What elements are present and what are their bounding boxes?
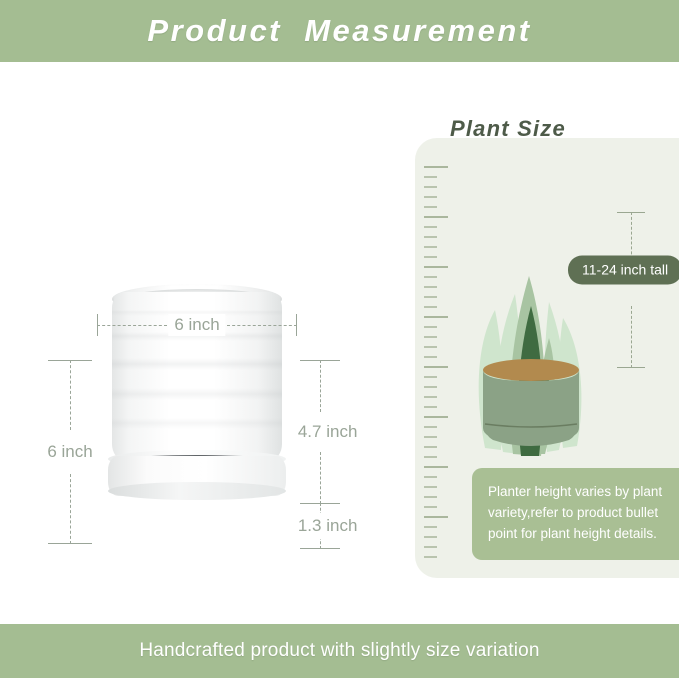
ruler-tick <box>424 506 437 508</box>
ruler-tick <box>424 476 437 478</box>
ruler-tick <box>424 276 437 278</box>
ruler-tick <box>424 526 437 528</box>
dimension-pot-height-label: 4.7 inch <box>296 419 360 445</box>
page-title: Product Measurement <box>147 13 531 49</box>
plant-height-badge: 11-24 inch tall <box>568 256 679 285</box>
footer-banner: Handcrafted product with slightly size v… <box>0 624 679 678</box>
ruler-tick <box>424 376 437 378</box>
ruler-tick <box>424 206 437 208</box>
ruler-tick <box>424 496 437 498</box>
ruler-tick <box>424 406 437 408</box>
ruler-tick <box>424 536 437 538</box>
dimension-dash-top <box>70 360 71 430</box>
ruler-tick <box>424 486 437 488</box>
ruler-tick <box>424 216 448 218</box>
dimension-width-label: 6 inch <box>168 314 225 336</box>
product-measurement-section: 6 inch 6 inch 4.7 inch 1.3 inch <box>0 62 400 624</box>
ruler-tick <box>424 166 448 168</box>
dimension-dash-top <box>320 360 321 412</box>
ruler-tick <box>424 306 437 308</box>
ruler-tick <box>424 456 437 458</box>
dimension-plant-height <box>611 212 651 368</box>
ruler-tick <box>424 516 448 518</box>
ruler-tick <box>424 546 437 548</box>
dimension-dash-left <box>97 325 167 326</box>
planter-saucer-bottom <box>108 482 286 500</box>
ruler-tick <box>424 356 437 358</box>
ruler-tick <box>424 416 448 418</box>
dimension-total-height: 6 inch <box>48 360 92 544</box>
ruler-tick <box>424 366 448 368</box>
plant-size-panel: Planter height varies by plant variety,r… <box>415 138 679 578</box>
plant-size-title: Plant Size <box>450 116 566 142</box>
ruler-tick <box>424 176 437 178</box>
dimension-total-height-label: 6 inch <box>45 439 94 465</box>
dimension-saucer-height: 1.3 inch <box>300 503 344 549</box>
ruler-tick <box>424 346 437 348</box>
footer-note: Handcrafted product with slightly size v… <box>139 640 539 662</box>
ruler-tick <box>424 436 437 438</box>
ruler-icon <box>424 166 454 566</box>
dimension-pot-height: 4.7 inch <box>300 360 344 504</box>
ruler-tick <box>424 266 448 268</box>
ruler-tick <box>424 396 437 398</box>
header-banner: Product Measurement <box>0 0 679 62</box>
ruler-tick <box>424 466 448 468</box>
dimension-dash-bottom <box>631 306 632 368</box>
ruler-tick <box>424 316 448 318</box>
ruler-tick <box>424 186 437 188</box>
ruler-tick <box>424 386 437 388</box>
ruler-tick <box>424 226 437 228</box>
dimension-dash-right <box>227 325 297 326</box>
ruler-tick <box>424 256 437 258</box>
ruler-tick <box>424 446 437 448</box>
ruler-tick <box>424 196 437 198</box>
ruler-tick <box>424 426 437 428</box>
ruler-tick <box>424 556 437 558</box>
ruler-tick <box>424 236 437 238</box>
dimension-saucer-height-label: 1.3 inch <box>296 513 360 539</box>
dimension-dash-bottom <box>320 452 321 504</box>
plant-height-note: Planter height varies by plant variety,r… <box>472 468 679 560</box>
dimension-dash-bottom <box>70 474 71 544</box>
ruler-tick <box>424 246 437 248</box>
illustrated-planter <box>471 356 591 456</box>
ruler-tick <box>424 296 437 298</box>
ruler-tick <box>424 286 437 288</box>
dimension-width: 6 inch <box>97 314 297 336</box>
ruler-tick <box>424 326 437 328</box>
ruler-tick <box>424 336 437 338</box>
